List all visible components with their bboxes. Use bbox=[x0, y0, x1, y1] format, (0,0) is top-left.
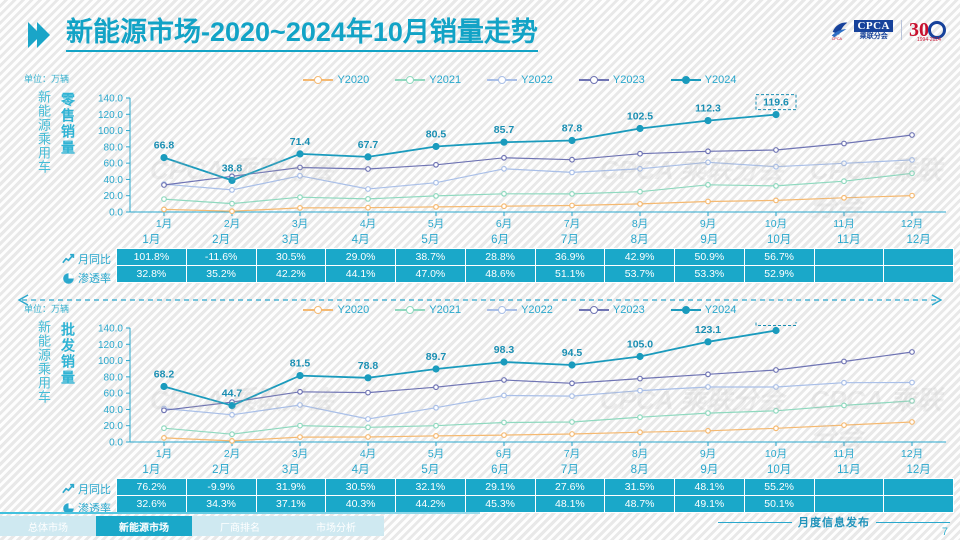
wholesale-point-y2021-6 bbox=[570, 420, 575, 425]
retail-legend-item-y2022[interactable]: Y2022 bbox=[487, 74, 553, 86]
footer-tab-item[interactable]: 总体市场 bbox=[0, 516, 96, 536]
trend-icon bbox=[62, 483, 75, 496]
wholesale-series-y2022 bbox=[164, 383, 912, 420]
legend-label: Y2024 bbox=[705, 74, 737, 86]
wholesale-y-tick-label: 80.0 bbox=[104, 372, 124, 383]
legend-label: Y2022 bbox=[521, 304, 553, 316]
legend-swatch-icon bbox=[671, 79, 701, 81]
retail-point-y2023-7 bbox=[638, 151, 643, 156]
retail-point-y2024-6 bbox=[569, 138, 575, 144]
retail-point-y2020-11 bbox=[910, 193, 915, 198]
retail-point-y2023-10 bbox=[842, 141, 847, 146]
retail-legend-item-y2023[interactable]: Y2023 bbox=[579, 74, 645, 86]
retail-point-y2020-8 bbox=[706, 199, 711, 204]
wholesale-point-y2021-3 bbox=[366, 425, 371, 430]
wholesale-point-y2024-0 bbox=[161, 384, 167, 390]
cpca-wordmark-cn: 乘联分会 bbox=[860, 32, 888, 41]
retail-point-y2021-5 bbox=[502, 192, 507, 197]
wholesale-point-y2024-7 bbox=[637, 354, 643, 360]
retail-data-label-9: 119.6 bbox=[763, 97, 789, 109]
retail-col-header: 9月 bbox=[675, 230, 745, 248]
retail-y-tick-label: 120.0 bbox=[98, 110, 123, 121]
retail-point-y2021-6 bbox=[570, 192, 575, 197]
wholesale-col-header: 8月 bbox=[605, 460, 675, 478]
wholesale-point-y2024-4 bbox=[433, 366, 439, 372]
wholesale-data-label-5: 98.3 bbox=[494, 344, 515, 356]
page-number: 7 bbox=[942, 526, 948, 538]
retail-point-y2022-4 bbox=[434, 180, 439, 185]
wholesale-point-y2022-2 bbox=[298, 403, 303, 408]
retail-x-tick-label: 1月 bbox=[156, 218, 172, 230]
legend-marker-icon bbox=[682, 306, 690, 314]
footer-tab-item[interactable]: 厂商排名 bbox=[192, 516, 288, 536]
retail-cell: 42.9% bbox=[605, 248, 675, 265]
retail-point-y2021-2 bbox=[298, 195, 303, 200]
retail-data-label-3: 67.7 bbox=[358, 139, 379, 151]
wholesale-y-tick-label: 140.0 bbox=[98, 324, 123, 335]
legend-label: Y2023 bbox=[613, 74, 645, 86]
wholesale-x-tick-label: 5月 bbox=[428, 448, 444, 460]
wholesale-col-header: 6月 bbox=[465, 460, 535, 478]
retail-data-label-2: 71.4 bbox=[290, 136, 311, 148]
retail-cell: 32.8% bbox=[117, 265, 187, 282]
wholesale-x-tick-label: 10月 bbox=[765, 448, 787, 460]
retail-point-y2024-9 bbox=[773, 112, 779, 118]
page-title: 新能源市场-2020~2024年10月销量走势 bbox=[66, 16, 538, 52]
retail-point-y2024-7 bbox=[637, 126, 643, 132]
wholesale-cell bbox=[884, 495, 954, 512]
wholesale-point-y2021-10 bbox=[842, 403, 847, 408]
wholesale-cell: 48.1% bbox=[675, 478, 745, 495]
retail-cell: -11.6% bbox=[186, 248, 256, 265]
wholesale-cell: 34.3% bbox=[186, 495, 256, 512]
wholesale-cell: 37.1% bbox=[256, 495, 326, 512]
wholesale-category-label: 新能源乘用车 bbox=[36, 320, 51, 404]
wholesale-table-header-row: 1月2月3月4月5月6月7月8月9月10月11月12月 bbox=[117, 460, 954, 478]
footer-rule bbox=[0, 512, 480, 514]
retail-point-y2021-1 bbox=[230, 201, 235, 206]
retail-data-table: 1月2月3月4月5月6月7月8月9月10月11月12月101.8%-11.6%3… bbox=[116, 230, 954, 283]
wholesale-col-header: 2月 bbox=[186, 460, 256, 478]
wholesale-x-tick-label: 7月 bbox=[564, 448, 580, 460]
retail-point-y2020-5 bbox=[502, 204, 507, 209]
retail-point-y2022-2 bbox=[298, 174, 303, 179]
legend-label: Y2020 bbox=[337, 74, 369, 86]
wholesale-metric-label: 批发销量 bbox=[60, 322, 75, 386]
wholesale-point-y2023-5 bbox=[502, 378, 507, 383]
retail-point-y2024-1 bbox=[229, 177, 235, 183]
legend-swatch-icon bbox=[395, 309, 425, 311]
wholesale-point-y2021-5 bbox=[502, 420, 507, 425]
retail-legend-item-y2024[interactable]: Y2024 bbox=[671, 74, 737, 86]
legend-marker-icon bbox=[498, 306, 506, 314]
retail-x-tick-label: 7月 bbox=[564, 218, 580, 230]
wholesale-cell: 27.6% bbox=[535, 478, 605, 495]
slide-header: 新能源市场-2020~2024年10月销量走势 CPCA CPCA 乘联分会 3… bbox=[0, 0, 960, 68]
retail-x-tick-label: 8月 bbox=[632, 218, 648, 230]
legend-swatch-icon bbox=[303, 309, 333, 311]
wholesale-point-y2023-10 bbox=[842, 359, 847, 364]
wholesale-col-header: 7月 bbox=[535, 460, 605, 478]
retail-point-y2023-5 bbox=[502, 156, 507, 161]
retail-point-y2020-0 bbox=[162, 207, 167, 212]
retail-x-tick-label: 3月 bbox=[292, 218, 308, 230]
wholesale-point-y2024-1 bbox=[229, 403, 235, 409]
wholesale-cell: 76.2% bbox=[117, 478, 187, 495]
legend-label: Y2020 bbox=[337, 304, 369, 316]
retail-point-y2023-4 bbox=[434, 163, 439, 168]
retail-point-y2021-3 bbox=[366, 197, 371, 202]
wholesale-point-y2023-0 bbox=[162, 408, 167, 413]
cpca-emblem-icon: CPCA bbox=[829, 19, 851, 41]
footer-caption: 月度信息发布 bbox=[798, 514, 870, 530]
retail-point-y2021-7 bbox=[638, 189, 643, 194]
footer-tab-active[interactable]: 新能源市场 bbox=[96, 516, 192, 536]
wholesale-cell: 50.1% bbox=[744, 495, 814, 512]
wholesale-x-tick-label: 2月 bbox=[224, 448, 240, 460]
retail-point-y2023-6 bbox=[570, 157, 575, 162]
retail-y-tick-label: 60.0 bbox=[104, 159, 124, 170]
wholesale-cell: 32.6% bbox=[117, 495, 187, 512]
wholesale-legend-item-y2023[interactable]: Y2023 bbox=[579, 304, 645, 316]
logo-group: CPCA CPCA 乘联分会 30 1994-2024 bbox=[829, 19, 946, 41]
wholesale-point-y2020-1 bbox=[230, 439, 235, 444]
retail-series-y2022 bbox=[164, 160, 912, 190]
retail-data-label-5: 85.7 bbox=[494, 124, 515, 136]
wholesale-point-y2024-5 bbox=[501, 359, 507, 365]
retail-x-tick-label: 2月 bbox=[224, 218, 240, 230]
wholesale-point-y2023-4 bbox=[434, 385, 439, 390]
retail-y-tick-label: 80.0 bbox=[104, 142, 124, 153]
wholesale-point-y2022-1 bbox=[230, 413, 235, 418]
wholesale-table-row: 32.6%34.3%37.1%40.3%44.2%45.3%48.1%48.7%… bbox=[117, 495, 954, 512]
retail-cell: 36.9% bbox=[535, 248, 605, 265]
cpca-wordmark-en: CPCA bbox=[854, 20, 893, 32]
wholesale-chart: Y2020Y2021Y2022Y2023Y2024 0.020.040.060.… bbox=[86, 302, 954, 462]
retail-data-label-0: 66.8 bbox=[154, 140, 175, 152]
legend-marker-icon bbox=[406, 306, 414, 314]
retail-point-y2024-2 bbox=[297, 151, 303, 157]
retail-point-y2023-11 bbox=[910, 133, 915, 138]
retail-x-tick-label: 11月 bbox=[833, 218, 854, 230]
wholesale-data-label-4: 89.7 bbox=[426, 351, 447, 363]
wholesale-point-y2021-1 bbox=[230, 432, 235, 437]
retail-table-row: 101.8%-11.6%30.5%29.0%38.7%28.8%36.9%42.… bbox=[117, 248, 954, 265]
wholesale-point-y2022-8 bbox=[706, 385, 711, 390]
retail-col-header: 8月 bbox=[605, 230, 675, 248]
legend-marker-icon bbox=[406, 76, 414, 84]
wholesale-point-y2020-2 bbox=[298, 435, 303, 440]
retail-point-y2022-7 bbox=[638, 167, 643, 172]
wholesale-point-y2023-3 bbox=[366, 390, 371, 395]
wholesale-legend-item-y2021[interactable]: Y2021 bbox=[395, 304, 461, 316]
retail-cell bbox=[884, 248, 954, 265]
wholesale-cell: 48.1% bbox=[535, 495, 605, 512]
retail-table: 月同比 渗透率 1月2月3月4月5月6月7月8月9月10月11月12月101.8… bbox=[58, 230, 954, 283]
retail-point-y2022-3 bbox=[366, 187, 371, 192]
retail-cell: 35.2% bbox=[186, 265, 256, 282]
retail-point-y2020-2 bbox=[298, 206, 303, 211]
retail-point-y2024-3 bbox=[365, 154, 371, 160]
retail-point-y2024-4 bbox=[433, 144, 439, 150]
footer-nav[interactable]: 总体市场新能源市场厂商排名市场分析 bbox=[0, 516, 384, 536]
retail-legend-item-y2020[interactable]: Y2020 bbox=[303, 74, 369, 86]
legend-swatch-icon bbox=[395, 79, 425, 81]
wholesale-col-header: 12月 bbox=[884, 460, 954, 478]
wholesale-cell bbox=[884, 478, 954, 495]
retail-data-label-7: 102.5 bbox=[627, 111, 653, 123]
retail-col-header: 7月 bbox=[535, 230, 605, 248]
legend-swatch-icon bbox=[671, 309, 701, 311]
pie-icon bbox=[62, 272, 75, 285]
legend-label: Y2021 bbox=[429, 304, 461, 316]
wholesale-data-label-3: 78.8 bbox=[358, 360, 379, 372]
retail-cell bbox=[814, 248, 884, 265]
retail-x-tick-label: 4月 bbox=[360, 218, 376, 230]
retail-point-y2020-6 bbox=[570, 203, 575, 208]
retail-cell: 48.6% bbox=[465, 265, 535, 282]
wholesale-cell: 44.2% bbox=[396, 495, 466, 512]
wholesale-point-y2023-8 bbox=[706, 372, 711, 377]
retail-point-y2021-10 bbox=[842, 179, 847, 184]
retail-col-header: 2月 bbox=[186, 230, 256, 248]
wholesale-cell: 29.1% bbox=[465, 478, 535, 495]
retail-point-y2020-7 bbox=[638, 202, 643, 207]
footer-dash-left bbox=[718, 522, 792, 523]
retail-axis-lines bbox=[130, 98, 946, 212]
wholesale-cell: 55.2% bbox=[744, 478, 814, 495]
wholesale-point-y2024-8 bbox=[705, 339, 711, 345]
retail-point-y2021-0 bbox=[162, 197, 167, 202]
retail-col-header: 6月 bbox=[465, 230, 535, 248]
retail-point-y2022-11 bbox=[910, 158, 915, 163]
wholesale-point-y2023-2 bbox=[298, 390, 303, 395]
wholesale-data-label-8: 123.1 bbox=[695, 324, 721, 336]
retail-plot: 0.020.040.060.080.0100.0120.0140.01月2月3月… bbox=[86, 92, 954, 232]
wholesale-point-y2022-3 bbox=[366, 417, 371, 422]
retail-y-tick-label: 0.0 bbox=[109, 208, 123, 219]
retail-point-y2021-9 bbox=[774, 184, 779, 189]
wholesale-point-y2020-11 bbox=[910, 420, 915, 425]
wholesale-point-y2023-11 bbox=[910, 350, 915, 355]
wholesale-col-header: 9月 bbox=[675, 460, 745, 478]
footer-right: 月度信息发布 bbox=[718, 514, 950, 530]
wholesale-legend-item-y2024[interactable]: Y2024 bbox=[671, 304, 737, 316]
retail-point-y2020-9 bbox=[774, 198, 779, 203]
legend-swatch-icon bbox=[487, 79, 517, 81]
retail-cell: 53.3% bbox=[675, 265, 745, 282]
wholesale-row-label-yoy-text: 月同比 bbox=[78, 481, 111, 497]
legend-marker-icon bbox=[590, 76, 598, 84]
legend-label: Y2023 bbox=[613, 304, 645, 316]
wholesale-point-y2020-10 bbox=[842, 423, 847, 428]
legend-marker-icon bbox=[682, 76, 690, 84]
cpca-logo: CPCA CPCA 乘联分会 bbox=[829, 19, 893, 41]
wholesale-table: 月同比 渗透率 1月2月3月4月5月6月7月8月9月10月11月12月76.2%… bbox=[58, 460, 954, 513]
legend-marker-icon bbox=[498, 76, 506, 84]
retail-data-label-1: 38.8 bbox=[222, 162, 243, 174]
legend-swatch-icon bbox=[303, 79, 333, 81]
retail-point-y2022-6 bbox=[570, 170, 575, 175]
wholesale-point-y2020-5 bbox=[502, 433, 507, 438]
wholesale-y-tick-label: 60.0 bbox=[104, 389, 124, 400]
wholesale-point-y2024-9 bbox=[773, 328, 779, 334]
wholesale-x-tick-label: 6月 bbox=[496, 448, 512, 460]
retail-point-y2023-0 bbox=[162, 183, 167, 188]
retail-chart: Y2020Y2021Y2022Y2023Y2024 0.020.040.060.… bbox=[86, 72, 954, 232]
wholesale-chart-legend: Y2020Y2021Y2022Y2023Y2024 bbox=[86, 304, 954, 316]
wholesale-col-header: 5月 bbox=[396, 460, 466, 478]
wholesale-series-y2021 bbox=[164, 401, 912, 434]
wholesale-point-y2020-4 bbox=[434, 434, 439, 439]
retail-point-y2021-4 bbox=[434, 194, 439, 199]
retail-data-label-6: 87.8 bbox=[562, 123, 583, 135]
wholesale-point-y2024-3 bbox=[365, 375, 371, 381]
wholesale-point-y2020-7 bbox=[638, 430, 643, 435]
anniversary-ring-icon: 1994-2024 bbox=[928, 21, 946, 39]
wholesale-x-tick-label: 9月 bbox=[700, 448, 716, 460]
wholesale-point-y2022-4 bbox=[434, 405, 439, 410]
retail-point-y2022-5 bbox=[502, 167, 507, 172]
slide-footer: 总体市场新能源市场厂商排名市场分析 月度信息发布 7 bbox=[0, 512, 960, 540]
retail-data-label-8: 112.3 bbox=[695, 103, 721, 115]
retail-x-tick-label: 9月 bbox=[700, 218, 716, 230]
retail-x-tick-label: 5月 bbox=[428, 218, 444, 230]
wholesale-axis-lines bbox=[130, 328, 946, 442]
wholesale-point-y2023-9 bbox=[774, 368, 779, 373]
cpca-wordmark: CPCA 乘联分会 bbox=[854, 20, 893, 41]
retail-point-y2024-0 bbox=[161, 155, 167, 161]
wholesale-col-header: 11月 bbox=[814, 460, 884, 478]
wholesale-point-y2021-2 bbox=[298, 423, 303, 428]
retail-cell: 28.8% bbox=[465, 248, 535, 265]
wholesale-point-y2023-6 bbox=[570, 381, 575, 386]
wholesale-point-y2024-2 bbox=[297, 373, 303, 379]
wholesale-data-label-9: 136.9 bbox=[763, 322, 789, 325]
wholesale-row-label-yoy: 月同比 bbox=[62, 481, 111, 497]
wholesale-cell: 48.7% bbox=[605, 495, 675, 512]
retail-col-header: 3月 bbox=[256, 230, 326, 248]
wholesale-table-row: 76.2%-9.9%31.9%30.5%32.1%29.1%27.6%31.5%… bbox=[117, 478, 954, 495]
wholesale-cell: 31.5% bbox=[605, 478, 675, 495]
retail-cell: 44.1% bbox=[326, 265, 396, 282]
retail-point-y2021-8 bbox=[706, 183, 711, 188]
footer-dash-right bbox=[876, 522, 950, 523]
legend-swatch-icon bbox=[487, 309, 517, 311]
retail-series-y2023 bbox=[164, 135, 912, 185]
retail-col-header: 1月 bbox=[117, 230, 187, 248]
retail-cell bbox=[884, 265, 954, 282]
chevron-right-icon bbox=[28, 22, 50, 48]
retail-cell: 42.2% bbox=[256, 265, 326, 282]
wholesale-y-tick-label: 0.0 bbox=[109, 438, 123, 449]
retail-cell: 38.7% bbox=[396, 248, 466, 265]
legend-marker-icon bbox=[314, 306, 322, 314]
retail-series-y2020 bbox=[164, 196, 912, 212]
retail-x-tick-label: 12月 bbox=[901, 218, 923, 230]
retail-point-y2020-1 bbox=[230, 209, 235, 214]
wholesale-point-y2020-9 bbox=[774, 426, 779, 431]
retail-unit-label: 单位：万辆 bbox=[24, 72, 69, 85]
retail-legend-item-y2021[interactable]: Y2021 bbox=[395, 74, 461, 86]
retail-row-label-penetration: 渗透率 bbox=[62, 270, 111, 286]
wholesale-point-y2024-6 bbox=[569, 362, 575, 368]
retail-col-header: 12月 bbox=[884, 230, 954, 248]
wholesale-x-tick-label: 3月 bbox=[292, 448, 308, 460]
retail-panel: 单位：万辆 新能源乘用车 零售销量 Y2020Y2021Y2022Y2023Y2… bbox=[0, 72, 960, 290]
wholesale-x-tick-label: 11月 bbox=[833, 448, 854, 460]
retail-data-label-4: 80.5 bbox=[426, 128, 447, 140]
retail-point-y2023-8 bbox=[706, 149, 711, 154]
retail-row-label-yoy-text: 月同比 bbox=[78, 251, 111, 267]
wholesale-cell: 32.1% bbox=[396, 478, 466, 495]
wholesale-col-header: 10月 bbox=[744, 460, 814, 478]
wholesale-unit-label: 单位：万辆 bbox=[24, 302, 69, 315]
retail-row-label-yoy: 月同比 bbox=[62, 251, 111, 267]
retail-col-header: 5月 bbox=[396, 230, 466, 248]
wholesale-point-y2020-6 bbox=[570, 432, 575, 437]
wholesale-cell: -9.9% bbox=[186, 478, 256, 495]
legend-label: Y2021 bbox=[429, 74, 461, 86]
retail-cell bbox=[814, 265, 884, 282]
retail-cell: 50.9% bbox=[675, 248, 745, 265]
wholesale-data-label-6: 94.5 bbox=[562, 347, 583, 359]
retail-col-header: 11月 bbox=[814, 230, 884, 248]
wholesale-x-tick-label: 8月 bbox=[632, 448, 648, 460]
wholesale-point-y2021-11 bbox=[910, 399, 915, 404]
wholesale-point-y2022-5 bbox=[502, 393, 507, 398]
footer-tab-item[interactable]: 市场分析 bbox=[288, 516, 384, 536]
retail-cell: 29.0% bbox=[326, 248, 396, 265]
retail-point-y2023-2 bbox=[298, 165, 303, 170]
wholesale-legend-item-y2020[interactable]: Y2020 bbox=[303, 304, 369, 316]
wholesale-series-y2020 bbox=[164, 422, 912, 441]
legend-marker-icon bbox=[590, 306, 598, 314]
wholesale-legend-item-y2022[interactable]: Y2022 bbox=[487, 304, 553, 316]
retail-cell: 53.7% bbox=[605, 265, 675, 282]
trend-icon bbox=[62, 253, 75, 266]
wholesale-point-y2022-7 bbox=[638, 388, 643, 393]
retail-category-label: 新能源乘用车 bbox=[36, 90, 51, 174]
wholesale-x-tick-label: 12月 bbox=[901, 448, 923, 460]
wholesale-col-header: 3月 bbox=[256, 460, 326, 478]
retail-y-tick-label: 140.0 bbox=[98, 94, 123, 105]
wholesale-cell: 30.5% bbox=[326, 478, 396, 495]
retail-cell: 30.5% bbox=[256, 248, 326, 265]
retail-cell: 51.1% bbox=[535, 265, 605, 282]
wholesale-y-tick-label: 20.0 bbox=[104, 421, 124, 432]
retail-col-header: 4月 bbox=[326, 230, 396, 248]
retail-point-y2020-4 bbox=[434, 205, 439, 210]
wholesale-col-header: 1月 bbox=[117, 460, 187, 478]
retail-cell: 47.0% bbox=[396, 265, 466, 282]
retail-plot-svg: 0.020.040.060.080.0100.0120.0140.01月2月3月… bbox=[86, 92, 954, 232]
wholesale-y-tick-label: 120.0 bbox=[98, 340, 123, 351]
wholesale-y-tick-label: 40.0 bbox=[104, 405, 124, 416]
retail-point-y2022-10 bbox=[842, 161, 847, 166]
wholesale-data-label-1: 44.7 bbox=[222, 388, 243, 400]
legend-swatch-icon bbox=[579, 79, 609, 81]
wholesale-point-y2021-4 bbox=[434, 423, 439, 428]
retail-cell: 52.9% bbox=[744, 265, 814, 282]
wholesale-x-tick-label: 4月 bbox=[360, 448, 376, 460]
wholesale-point-y2022-11 bbox=[910, 380, 915, 385]
wholesale-cell: 45.3% bbox=[465, 495, 535, 512]
retail-table-header-row: 1月2月3月4月5月6月7月8月9月10月11月12月 bbox=[117, 230, 954, 248]
retail-cell: 56.7% bbox=[744, 248, 814, 265]
retail-x-tick-label: 6月 bbox=[496, 218, 512, 230]
retail-point-y2024-8 bbox=[705, 118, 711, 124]
